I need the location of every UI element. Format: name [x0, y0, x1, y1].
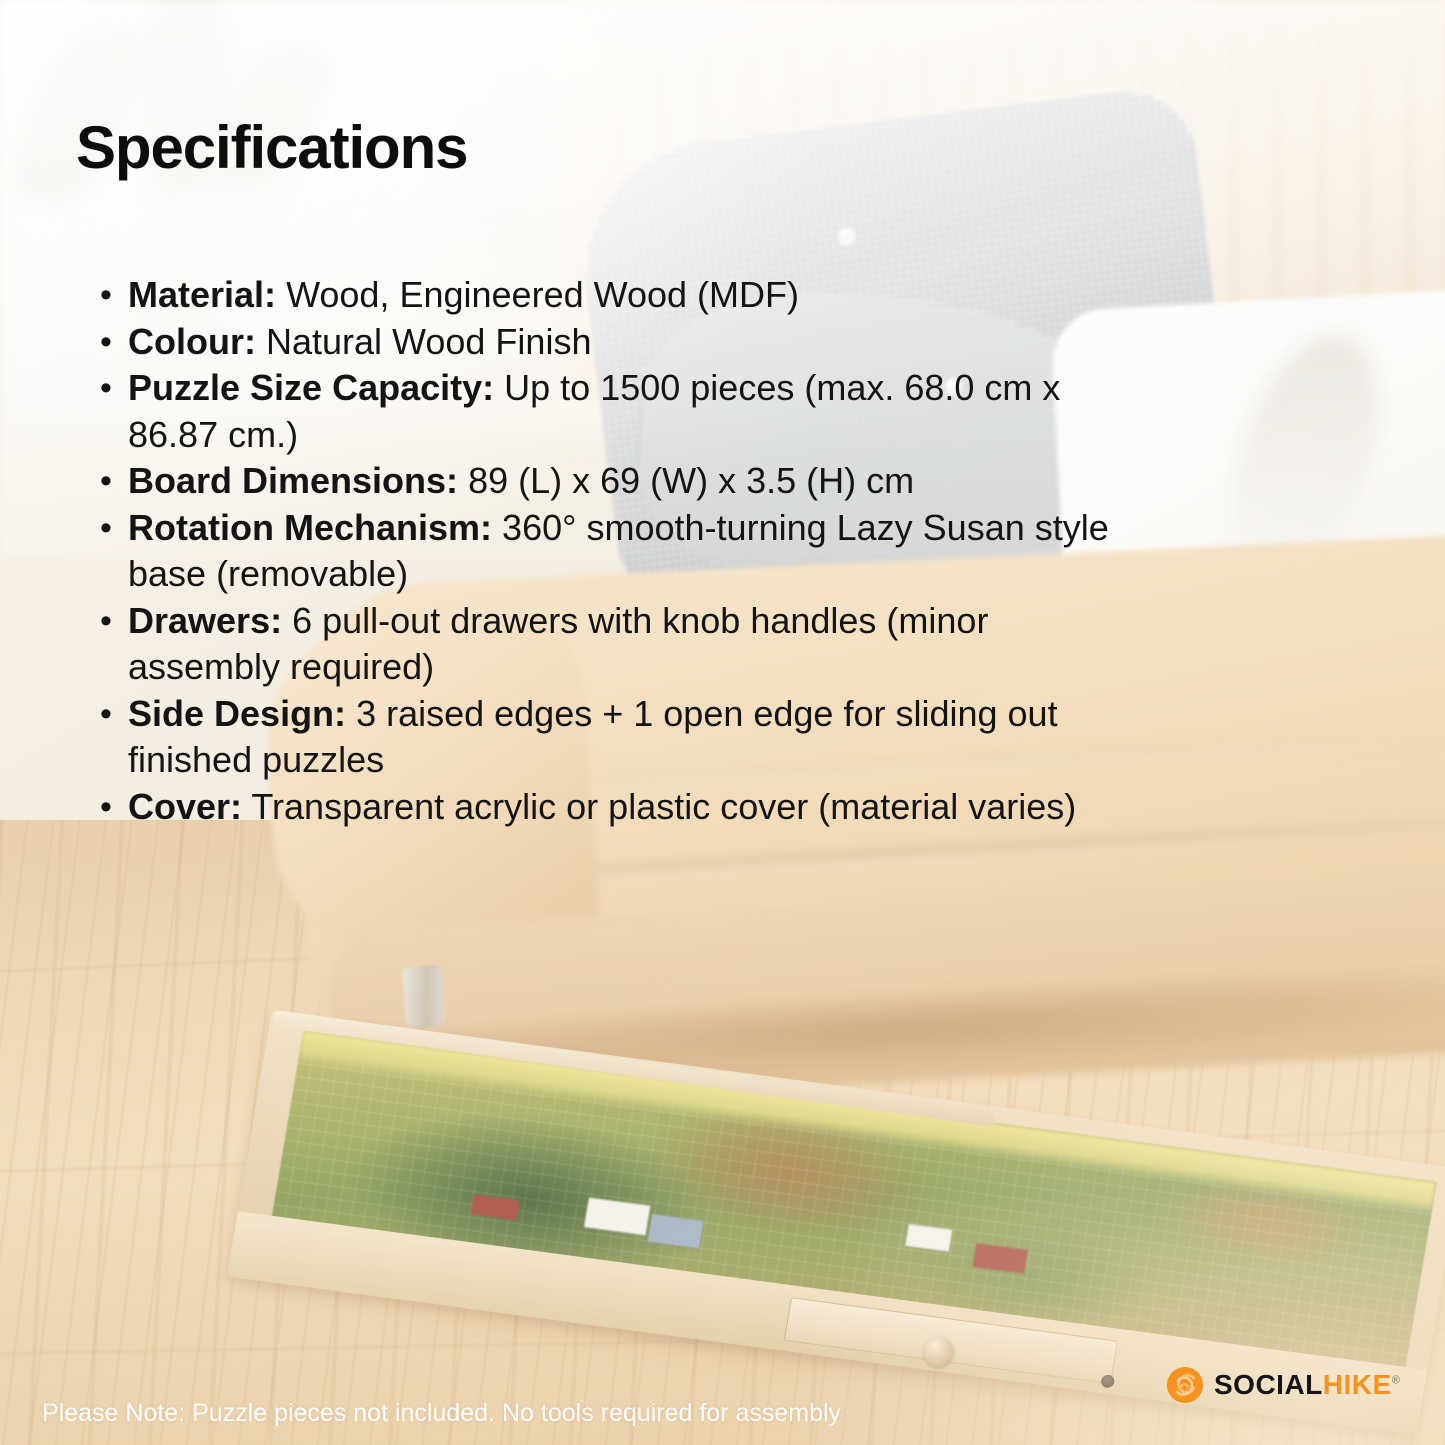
spec-label: Puzzle Size Capacity:: [128, 367, 494, 408]
list-item: Puzzle Size Capacity: Up to 1500 pieces …: [86, 365, 1116, 458]
spec-value: Transparent acrylic or plastic cover (ma…: [251, 786, 1076, 827]
brand-logo: SOCIALHIKE®: [1166, 1366, 1400, 1404]
list-item: Material: Wood, Engineered Wood (MDF): [86, 272, 1116, 319]
spec-label: Drawers:: [128, 600, 282, 641]
specifications-overlay: Specifications Material: Wood, Engineere…: [0, 0, 1445, 1445]
list-item: Board Dimensions: 89 (L) x 69 (W) x 3.5 …: [86, 458, 1116, 505]
socialhike-spiral-s-logo-icon: [1166, 1366, 1204, 1404]
list-item: Drawers: 6 pull-out drawers with knob ha…: [86, 598, 1116, 691]
list-item: Rotation Mechanism: 360° smooth-turning …: [86, 505, 1116, 598]
spec-value: Wood, Engineered Wood (MDF): [286, 274, 799, 315]
specifications-list: Material: Wood, Engineered Wood (MDF) Co…: [86, 272, 1116, 830]
spec-label: Colour:: [128, 321, 256, 362]
spec-value: 89 (L) x 69 (W) x 3.5 (H) cm: [468, 460, 914, 501]
spec-label: Rotation Mechanism:: [128, 507, 492, 548]
list-item: Colour: Natural Wood Finish: [86, 319, 1116, 366]
list-item: Side Design: 3 raised edges + 1 open edg…: [86, 691, 1116, 784]
registered-trademark-symbol: ®: [1392, 1375, 1401, 1387]
spec-label: Side Design:: [128, 693, 346, 734]
page-title: Specifications: [76, 118, 467, 178]
spec-value: Natural Wood Finish: [266, 321, 591, 362]
logo-text-social: SOCIAL: [1214, 1369, 1323, 1400]
logo-text-hike: HIKE: [1323, 1369, 1392, 1400]
spec-label: Cover:: [128, 786, 242, 827]
spec-label: Board Dimensions:: [128, 460, 458, 501]
logo-wordmark: SOCIALHIKE®: [1214, 1371, 1400, 1399]
spec-label: Material:: [128, 274, 276, 315]
footer-note: Please Note: Puzzle pieces not included.…: [42, 1399, 841, 1428]
list-item: Cover: Transparent acrylic or plastic co…: [86, 784, 1116, 831]
